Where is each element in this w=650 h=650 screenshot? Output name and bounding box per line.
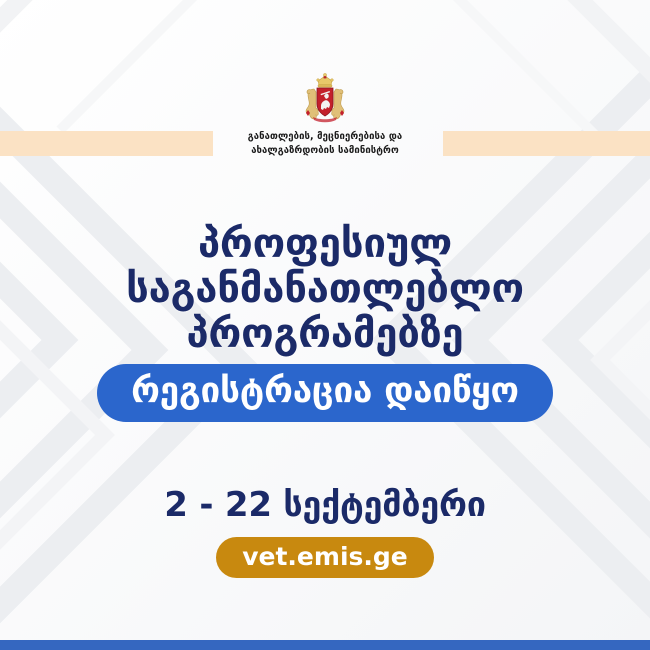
poster-header: განათლების, მეცნიერებისა და ახალგაზრდობი… <box>0 72 650 158</box>
poster-canvas: განათლების, მეცნიერებისა და ახალგაზრდობი… <box>0 0 650 650</box>
headline-line-1: პროფესიულ <box>0 222 650 267</box>
registration-dates: 2 - 22 სექტემბერი <box>0 488 650 522</box>
ministry-name-line-1: განათლების, მეცნიერებისა და <box>248 130 402 144</box>
ministry-name-line-2: ახალგაზრდობის სამინისტრო <box>248 144 402 158</box>
registration-open-badge: რეგისტრაცია დაიწყო <box>97 364 553 422</box>
website-link-badge[interactable]: vet.emis.ge <box>216 537 434 578</box>
georgia-coat-of-arms-emblem <box>301 72 349 124</box>
headline-line-3: პროგრამებზე <box>0 312 650 357</box>
registration-highlight: რეგისტრაცია დაიწყო <box>0 364 650 422</box>
bottom-accent-bar <box>0 640 650 650</box>
website-row: vet.emis.ge <box>0 537 650 578</box>
headline: პროფესიულ საგანმანათლებლო პროგრამებზე <box>0 222 650 356</box>
headline-line-2: საგანმანათლებლო <box>0 267 650 312</box>
ministry-name: განათლების, მეცნიერებისა და ახალგაზრდობი… <box>248 130 402 158</box>
